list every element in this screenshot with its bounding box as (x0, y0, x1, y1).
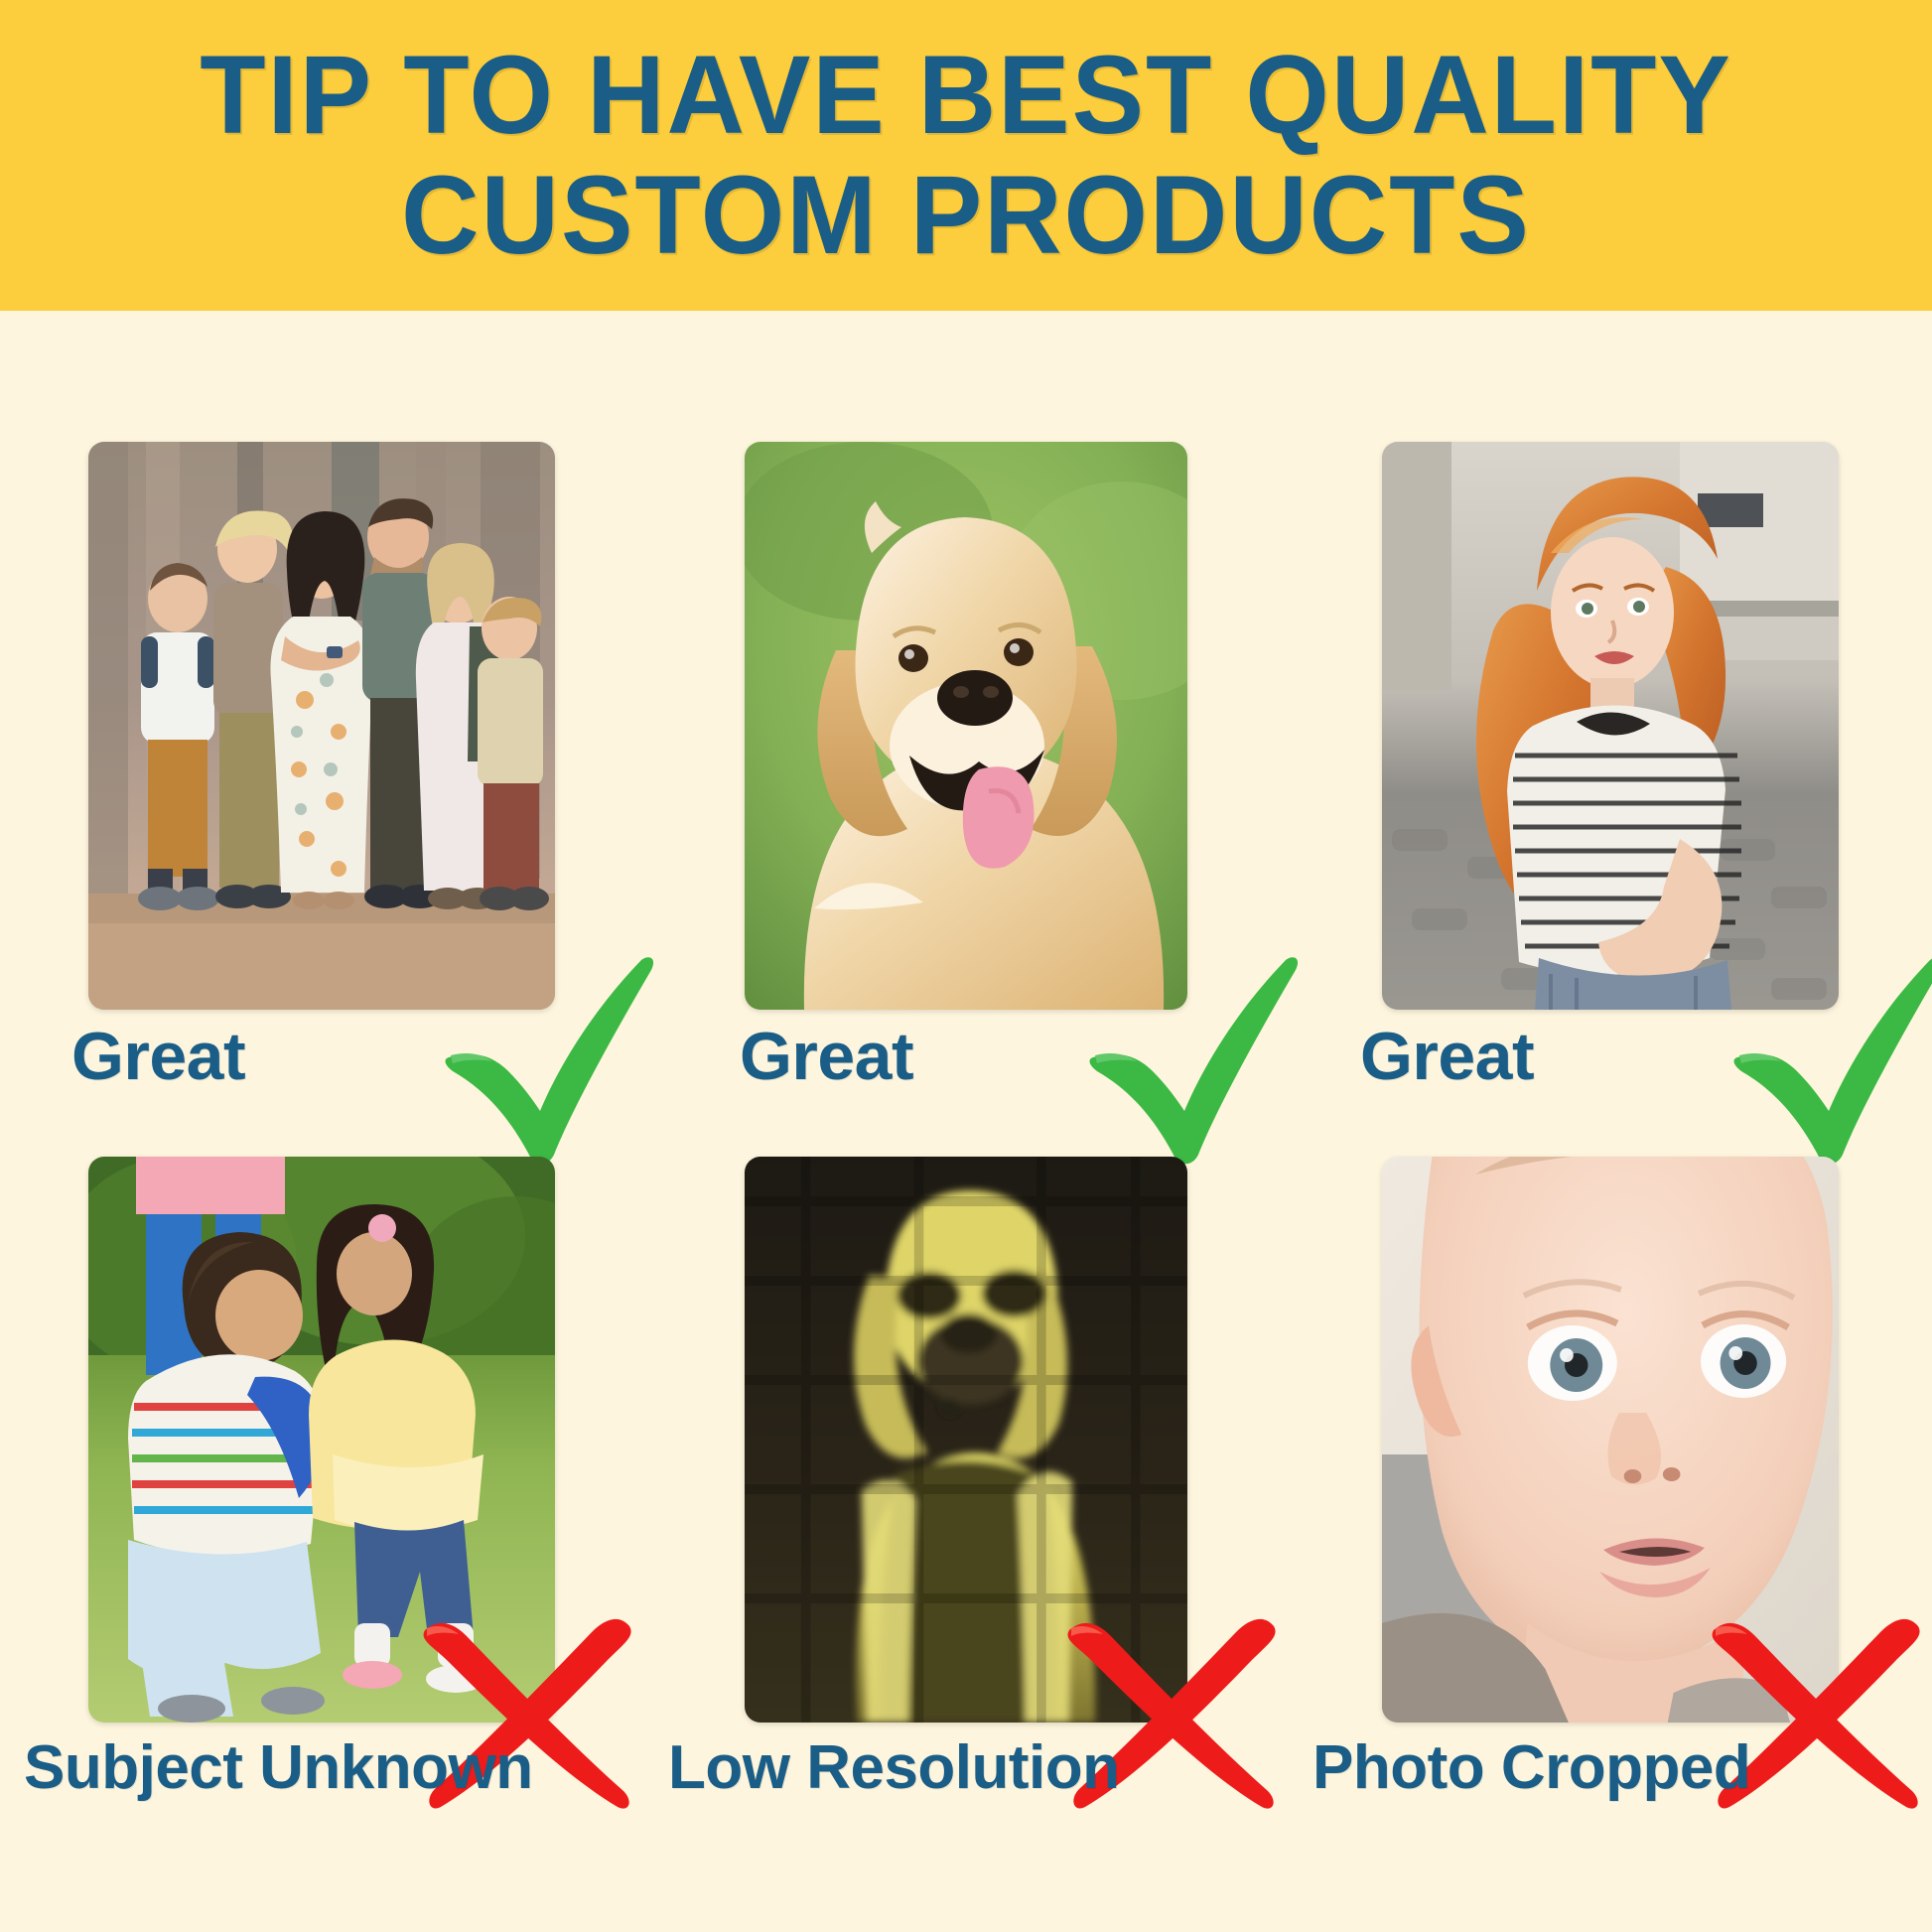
photo-card[interactable] (1382, 442, 1839, 1010)
verdict-label: Photo Cropped (1312, 1732, 1750, 1803)
children-running-away-photo (88, 1157, 555, 1723)
verdict-label: Low Resolution (668, 1732, 1120, 1803)
page-title: TIP TO HAVE BEST QUALITY CUSTOM PRODUCTS (148, 36, 1785, 276)
verdict-label-row: Low Resolution (644, 1732, 1288, 1803)
examples-grid: Great (0, 311, 1932, 1932)
example-cell-cropped-baby[interactable]: Photo Cropped (1289, 1065, 1932, 1875)
photo-card[interactable] (88, 1157, 555, 1723)
verdict-label-row: Photo Cropped (1289, 1732, 1932, 1803)
pixelated-dog-photo (745, 1157, 1187, 1723)
photo-card[interactable] (745, 1157, 1187, 1723)
family-group-portrait-photo (88, 442, 555, 1010)
example-cell-family[interactable]: Great (0, 311, 643, 1121)
page-title-line-1: TIP TO HAVE BEST QUALITY (200, 33, 1732, 157)
example-cell-dog[interactable]: Great (644, 311, 1288, 1121)
verdict-label-row: Subject Unknown (0, 1732, 643, 1803)
bad-examples-row: Subject Unknown (0, 1065, 1932, 1875)
header-banner: TIP TO HAVE BEST QUALITY CUSTOM PRODUCTS (0, 0, 1932, 311)
example-cell-woman[interactable]: Great (1289, 311, 1932, 1121)
page-title-line-2: CUSTOM PRODUCTS (401, 153, 1531, 277)
red-haired-woman-portrait-photo (1382, 442, 1839, 1010)
cropped-baby-face-photo (1382, 1157, 1839, 1723)
example-cell-lowres-dog[interactable]: Low Resolution (644, 1065, 1288, 1875)
photo-card[interactable] (745, 442, 1187, 1010)
golden-retriever-portrait-photo (745, 442, 1187, 1010)
example-cell-children[interactable]: Subject Unknown (0, 1065, 643, 1875)
good-examples-row: Great (0, 311, 1932, 1121)
photo-card[interactable] (88, 442, 555, 1010)
verdict-label: Subject Unknown (24, 1732, 533, 1803)
photo-card[interactable] (1382, 1157, 1839, 1723)
